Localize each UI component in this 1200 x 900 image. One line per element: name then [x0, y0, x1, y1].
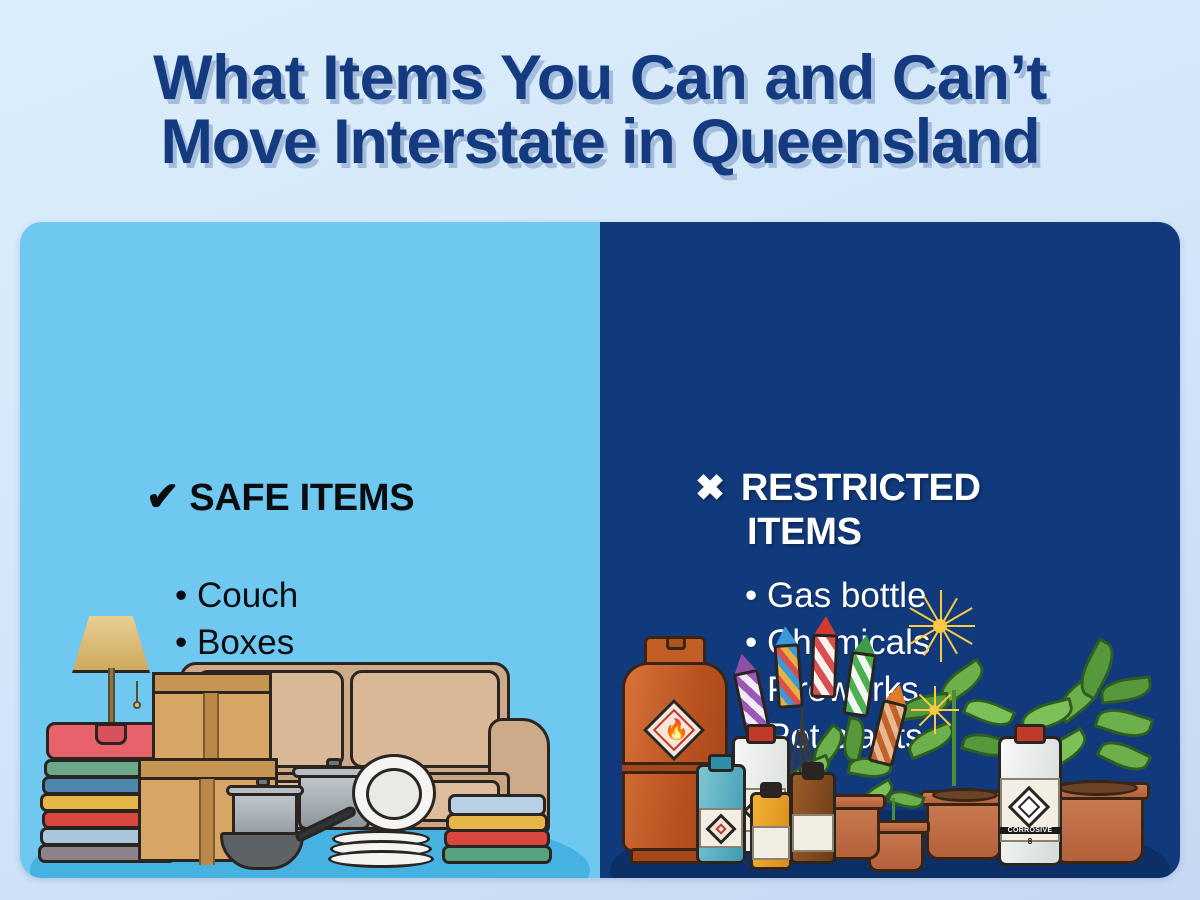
restricted-items-panel: ✖RESTRICTED ITEMS •Gas bottle •Chemicals… — [600, 222, 1180, 878]
restricted-items-heading-line-1: RESTRICTED — [741, 467, 981, 509]
safe-items-heading: ✔SAFE ITEMS — [146, 475, 566, 520]
restricted-items-heading: ✖RESTRICTED ITEMS — [695, 466, 1095, 554]
restricted-items-illustration: 🔥 C — [600, 558, 1180, 878]
cross-mark-icon: ✖ — [695, 467, 725, 508]
comparison-board: ✔SAFE ITEMS •Couch •Boxes •Kitchenware •… — [20, 222, 1180, 878]
sparkler-large-icon — [900, 586, 980, 666]
corrosive-label-text: CORROSIVE — [1000, 827, 1060, 834]
sparkler-small-icon — [906, 682, 962, 738]
safe-items-illustration — [20, 558, 600, 878]
safe-items-panel: ✔SAFE ITEMS •Couch •Boxes •Kitchenware •… — [20, 222, 600, 878]
page-title-line-1: What Items You Can and Can’t — [0, 46, 1200, 110]
check-mark-icon: ✔ — [146, 475, 179, 519]
page-title-line-2: Move Interstate in Queensland — [0, 110, 1200, 174]
safe-items-heading-text: SAFE ITEMS — [189, 477, 414, 519]
restricted-items-heading-line-2: ITEMS — [747, 510, 862, 554]
page-title: What Items You Can and Can’t Move Inters… — [0, 46, 1200, 174]
flame-icon: 🔥 — [664, 720, 689, 740]
corrosive-class-number: 8 — [1000, 837, 1060, 846]
